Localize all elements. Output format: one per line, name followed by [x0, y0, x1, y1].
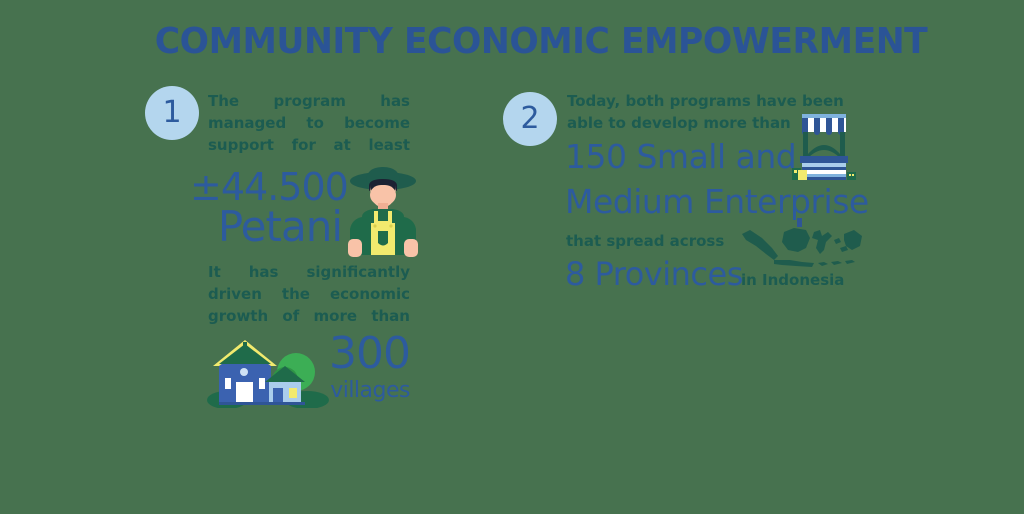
right-secondary-number: 8 Provinces	[565, 256, 743, 292]
page-title: COMMUNITY ECONOMIC EMPOWERMENT	[155, 22, 865, 62]
badge-two: 2	[503, 92, 557, 146]
infographic-canvas: COMMUNITY ECONOMIC EMPOWERMENT 1 The pro…	[0, 0, 1024, 514]
house-village-illustration	[203, 330, 331, 408]
left-secondary-label: villages	[318, 379, 410, 403]
left-secondary-text: It has significantly driven the economic…	[208, 261, 410, 327]
left-secondary-number: 300	[318, 330, 410, 378]
market-stall-illustration	[790, 110, 858, 190]
right-secondary-text: that spread across	[566, 230, 724, 252]
badge-one: 1	[145, 86, 199, 140]
indonesia-map-illustration	[740, 218, 864, 270]
left-intro-text: The program has managed to become suppor…	[208, 90, 410, 156]
right-stat-line-one: 150 Small and	[565, 138, 796, 176]
left-stat-label: Petani	[180, 204, 342, 250]
farmer-illustration	[340, 163, 426, 259]
right-secondary-suffix: in Indonesia	[741, 269, 844, 291]
